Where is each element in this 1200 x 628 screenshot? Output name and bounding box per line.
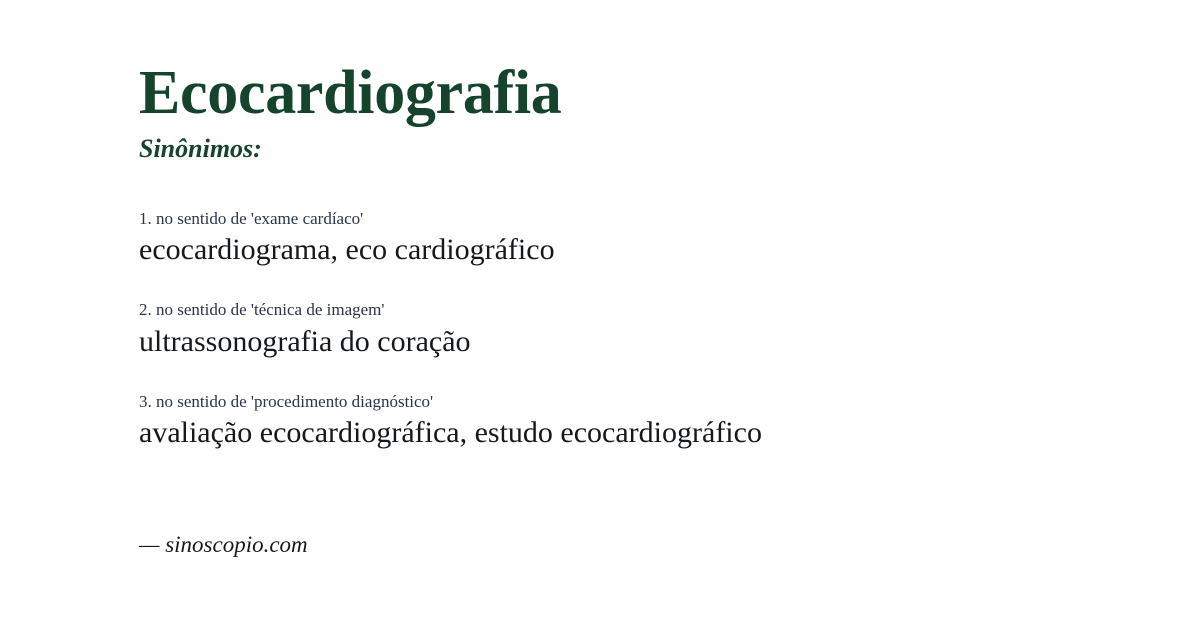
sense-list: 1. no sentido de 'exame cardíaco' ecocar… (139, 162, 1140, 451)
sense-label: 3. no sentido de 'procedimento diagnósti… (139, 391, 1140, 412)
synonyms-subtitle: Sinônimos: (139, 124, 1140, 162)
list-item: 2. no sentido de 'técnica de imagem' ult… (139, 299, 1140, 359)
list-item: 3. no sentido de 'procedimento diagnósti… (139, 391, 1140, 451)
sense-synonyms: ultrassonografia do coração (139, 321, 1140, 360)
sense-synonyms: avaliação ecocardiográfica, estudo ecoca… (139, 412, 1140, 451)
sense-synonyms: ecocardiograma, eco cardiográfico (139, 229, 1140, 268)
page-title: Ecocardiografia (139, 0, 1140, 124)
sense-label: 1. no sentido de 'exame cardíaco' (139, 208, 1140, 229)
synonym-card: Ecocardiografia Sinônimos: 1. no sentido… (0, 0, 1200, 628)
source-attribution: — sinoscopio.com (139, 533, 308, 556)
list-item: 1. no sentido de 'exame cardíaco' ecocar… (139, 208, 1140, 268)
sense-label: 2. no sentido de 'técnica de imagem' (139, 299, 1140, 320)
